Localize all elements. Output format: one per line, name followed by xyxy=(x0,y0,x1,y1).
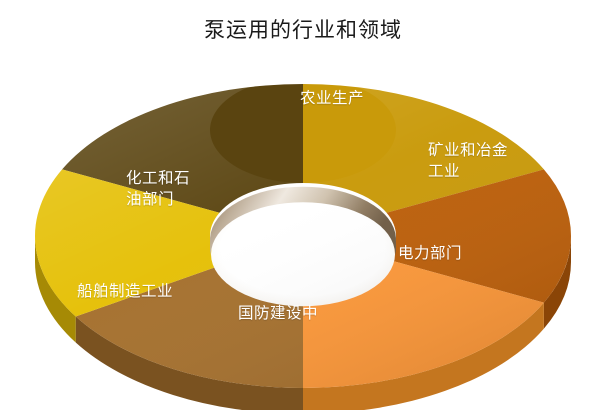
donut-chart-figure: 泵运用的行业和领域 xyxy=(0,0,606,410)
donut-chart-graphic xyxy=(0,0,606,410)
